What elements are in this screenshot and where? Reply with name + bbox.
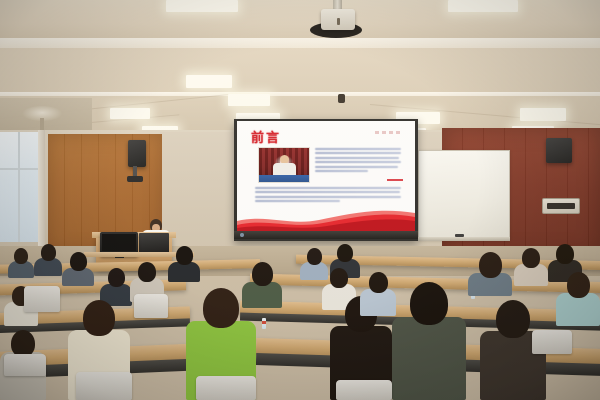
person-torso bbox=[392, 317, 466, 400]
slide-decoration bbox=[375, 131, 401, 134]
person-back-left-3 bbox=[62, 252, 94, 286]
led-panel-light-9 bbox=[520, 108, 566, 121]
slide-wave-graphic bbox=[237, 205, 415, 231]
slide-photo-desk bbox=[259, 175, 309, 182]
person-head bbox=[11, 330, 35, 357]
projection-screen: 前言 bbox=[237, 121, 415, 231]
screen-status-led-icon bbox=[240, 233, 244, 237]
led-panel-light-11 bbox=[166, 0, 238, 12]
chair bbox=[196, 376, 256, 400]
window-frame bbox=[38, 130, 45, 248]
person-head bbox=[337, 244, 353, 262]
projector-lens-icon bbox=[337, 18, 340, 25]
slide-body-text bbox=[315, 148, 401, 174]
person-head bbox=[307, 248, 322, 265]
slide-accent-rule bbox=[387, 179, 403, 181]
person-head bbox=[522, 248, 540, 268]
lectern-equipment bbox=[139, 233, 169, 253]
projection-screen-bottom-bar bbox=[234, 231, 418, 239]
wall-speaker-right-icon bbox=[546, 138, 572, 163]
person-torso bbox=[360, 289, 396, 316]
led-panel-light-12 bbox=[448, 0, 518, 12]
person-head bbox=[14, 248, 28, 264]
chair bbox=[76, 372, 132, 400]
text-line bbox=[315, 157, 399, 159]
speaker-mount-left bbox=[127, 176, 143, 182]
person-back-checkered bbox=[468, 252, 512, 296]
ceiling-mid-plane bbox=[0, 48, 600, 98]
text-line bbox=[315, 152, 401, 154]
slide-paragraph-text bbox=[255, 187, 401, 205]
person-head bbox=[330, 268, 348, 288]
person-center-dark bbox=[168, 246, 200, 282]
chair bbox=[336, 380, 392, 400]
person-head bbox=[556, 244, 574, 264]
person-head bbox=[70, 252, 87, 271]
wall-speaker-left-icon bbox=[128, 140, 146, 167]
text-line bbox=[315, 170, 368, 172]
person-front-olive bbox=[392, 282, 466, 400]
chair bbox=[134, 294, 168, 318]
person-right-wall-1 bbox=[514, 248, 548, 286]
window-mullion bbox=[0, 168, 40, 170]
person-head bbox=[252, 262, 273, 286]
text-line bbox=[255, 200, 340, 202]
lectern-monitor-screen bbox=[102, 234, 136, 251]
person-head bbox=[83, 300, 115, 336]
text-line bbox=[255, 191, 400, 193]
slide-photo bbox=[258, 147, 310, 183]
whiteboard-marker-icon bbox=[455, 234, 464, 237]
whiteboard-marker-tray bbox=[416, 237, 510, 241]
person-head bbox=[176, 246, 193, 265]
wall-control-panel[interactable] bbox=[542, 198, 580, 214]
presentation-slide: 前言 bbox=[237, 121, 415, 231]
slide-title: 前言 bbox=[251, 127, 281, 146]
person-head bbox=[567, 272, 590, 298]
person-head bbox=[369, 272, 388, 293]
ceiling-sensor-icon bbox=[338, 94, 345, 103]
lecture-hall-photo: 前言 bbox=[0, 0, 600, 400]
water-bottle-icon bbox=[262, 318, 266, 329]
text-line bbox=[315, 148, 401, 150]
chair bbox=[532, 330, 572, 354]
person-head bbox=[496, 300, 530, 338]
person-head bbox=[203, 288, 239, 328]
person-mid-right-plaid bbox=[242, 262, 282, 308]
person-back-left-1 bbox=[8, 248, 34, 278]
text-line bbox=[255, 187, 401, 189]
person-torso bbox=[168, 262, 200, 282]
window bbox=[0, 132, 40, 242]
led-panel-light-2 bbox=[228, 94, 270, 106]
text-line bbox=[315, 161, 401, 163]
text-line bbox=[255, 196, 401, 198]
window-mullion bbox=[18, 132, 20, 242]
person-head bbox=[479, 252, 502, 278]
chair bbox=[4, 354, 46, 376]
person-back-left-2 bbox=[34, 244, 62, 276]
person-head bbox=[41, 244, 56, 261]
chair bbox=[24, 286, 60, 312]
person-head bbox=[108, 268, 125, 287]
led-panel-light-3 bbox=[110, 108, 150, 119]
person-right-teal bbox=[556, 272, 600, 326]
person-head bbox=[410, 282, 448, 325]
whiteboard bbox=[418, 150, 510, 240]
led-panel-light-1 bbox=[186, 75, 232, 88]
person-center-blue bbox=[360, 272, 396, 316]
person-head bbox=[138, 262, 156, 282]
text-line bbox=[315, 166, 398, 168]
